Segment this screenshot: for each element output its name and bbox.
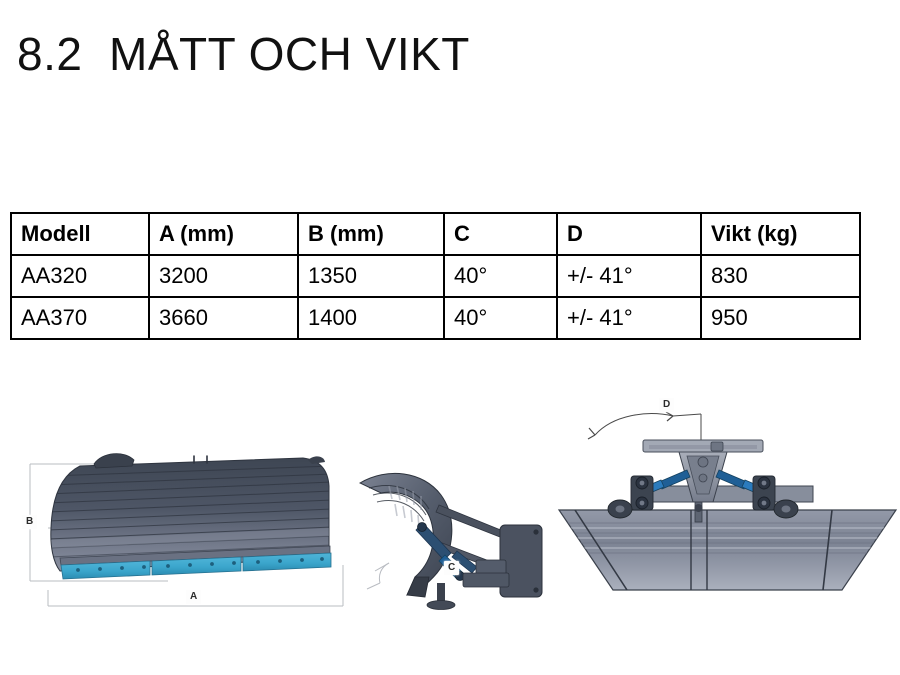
table-header-modell: Modell [11,213,149,255]
angle-label-d: D [659,398,674,412]
snow-plow-front-view-figure: B A [8,440,353,620]
cell-vikt-kg: 830 [701,255,860,297]
cross-beam [647,486,813,502]
dimension-label-a: A [186,590,201,604]
angle-label-c: C [444,561,459,575]
snow-plow-side-view-figure: C [345,455,560,615]
page-title: 8.2 MÅTT OCH VIKT [17,28,470,81]
cell-d: +/- 41° [557,297,701,339]
specifications-table: Modell A (mm) B (mm) C D Vikt (kg) AA320… [10,212,861,340]
ground-support [427,583,455,610]
table-header-b: B (mm) [298,213,444,255]
angle-indicator-c [367,563,389,589]
cell-a-mm: 3660 [149,297,298,339]
table-row: AA320 3200 1350 40° +/- 41° 830 [11,255,860,297]
table-header-row: Modell A (mm) B (mm) C D Vikt (kg) [11,213,860,255]
cell-d: +/- 41° [557,255,701,297]
cell-c: 40° [444,255,557,297]
table-header-a: A (mm) [149,213,298,255]
snow-plow-top-view-figure: D [555,390,900,610]
cell-modell: AA320 [11,255,149,297]
plow-blade-plate [555,510,900,590]
cell-vikt-kg: 950 [701,297,860,339]
cell-c: 40° [444,297,557,339]
table-header-d: D [557,213,701,255]
plow-blade-profile [360,473,452,597]
cell-a-mm: 3200 [149,255,298,297]
cell-modell: AA370 [11,297,149,339]
cell-b-mm: 1350 [298,255,444,297]
cell-b-mm: 1400 [298,297,444,339]
table-header-c: C [444,213,557,255]
table-header-vikt: Vikt (kg) [701,213,860,255]
dimension-label-b: B [22,515,37,529]
table-row: AA370 3660 1400 40° +/- 41° 950 [11,297,860,339]
